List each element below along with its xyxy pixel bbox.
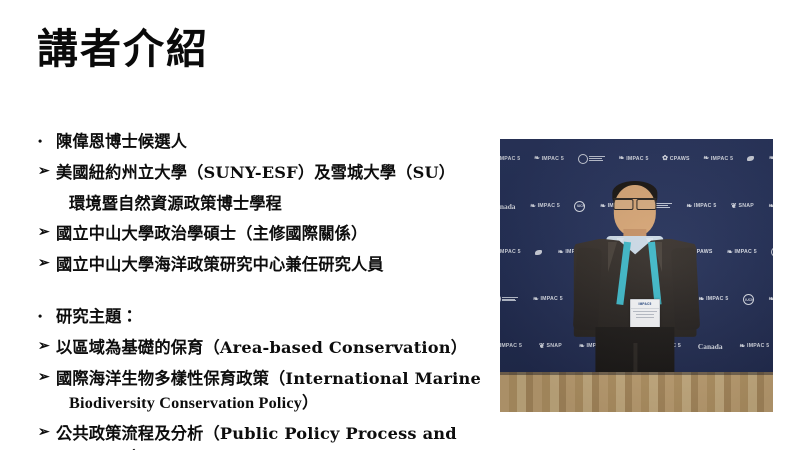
bullet-heading-name: • 陳偉恩博士候選人: [38, 130, 490, 154]
bullet-group-research-topics: • 研究主題： ➢ 以區域為基礎的保育（Area-based Conservat…: [38, 305, 490, 450]
bullet-heading-text: 研究主題：: [56, 307, 138, 326]
bullet-dot-icon: •: [38, 305, 54, 327]
list-item-text: 美國紐約州立大學（SUNY-ESF）及雪城大學（SU）: [56, 163, 455, 182]
glasses-lens-left: [614, 199, 634, 210]
arrow-bullet-icon: ➢: [38, 253, 54, 276]
badge-line: [636, 317, 653, 318]
bullet-heading-research: • 研究主題：: [38, 305, 490, 329]
list-item-research-fellow: ➢ 國立中山大學海洋政策研究中心兼任研究人員: [38, 253, 490, 277]
arrow-bullet-icon: ➢: [38, 222, 54, 245]
glasses-icon: [614, 198, 657, 208]
list-item-text: 國立中山大學政治學碩士（主修國際關係）: [56, 224, 367, 243]
list-item-text: 以區域為基礎的保育（Area-based Conservation）: [56, 338, 467, 357]
arm-left: [573, 248, 602, 331]
arm-right: [671, 248, 700, 331]
glasses-lens-right: [637, 199, 657, 210]
badge-title: IMPAC5: [631, 300, 660, 309]
arrow-bullet-icon: ➢: [38, 422, 54, 445]
list-item-phd-continuation: 環境暨自然資源政策博士學程: [38, 192, 490, 216]
slide: 講者介紹 • 陳偉恩博士候選人 ➢ 美國紐約州立大學（SUNY-ESF）及雪城大…: [0, 0, 800, 450]
arrow-bullet-icon: ➢: [38, 161, 54, 184]
wooden-floor: [500, 372, 773, 412]
list-item-public-policy-process: ➢ 公共政策流程及分析（Public Policy Process and An…: [38, 422, 490, 450]
arrow-bullet-icon: ➢: [38, 367, 54, 390]
page-title: 講者介紹: [37, 24, 209, 75]
badge-line: [633, 311, 658, 312]
list-item-text: 國際海洋生物多樣性保育政策（International Marine: [56, 369, 481, 388]
list-item-wrap-text: Biodiversity Conservation Policy）: [56, 391, 490, 415]
section-spacer: [38, 284, 490, 305]
list-item-masters: ➢ 國立中山大學政治學碩士（主修國際關係）: [38, 222, 490, 246]
list-item-text: 公共政策流程及分析（Public Policy Process and Anal…: [56, 424, 457, 450]
badge-line: [636, 314, 653, 315]
speaker-figure: IMPAC5: [500, 139, 773, 412]
bullet-group-profile: • 陳偉恩博士候選人 ➢ 美國紐約州立大學（SUNY-ESF）及雪城大學（SU）…: [38, 130, 490, 277]
bullet-heading-text: 陳偉恩博士候選人: [56, 132, 187, 151]
list-item-marine-biodiversity-policy: ➢ 國際海洋生物多樣性保育政策（International Marine Bio…: [38, 367, 490, 416]
list-item-area-based-conservation: ➢ 以區域為基礎的保育（Area-based Conservation）: [38, 336, 490, 360]
list-item-continuation-text: 環境暨自然資源政策博士學程: [69, 194, 282, 213]
speaker-photo: ❧IMPAC 5❧IMPAC 5❧IMPAC 5✿CPAWS❧IMPAC 5❧I…: [500, 139, 773, 412]
arrow-bullet-icon: ➢: [38, 336, 54, 359]
bullet-body: • 陳偉恩博士候選人 ➢ 美國紐約州立大學（SUNY-ESF）及雪城大學（SU）…: [38, 130, 490, 450]
list-item-phd: ➢ 美國紐約州立大學（SUNY-ESF）及雪城大學（SU）: [38, 161, 490, 185]
bullet-dot-icon: •: [38, 130, 54, 152]
list-item-text: 國立中山大學海洋政策研究中心兼任研究人員: [56, 255, 384, 274]
lapel-left: [608, 242, 617, 272]
